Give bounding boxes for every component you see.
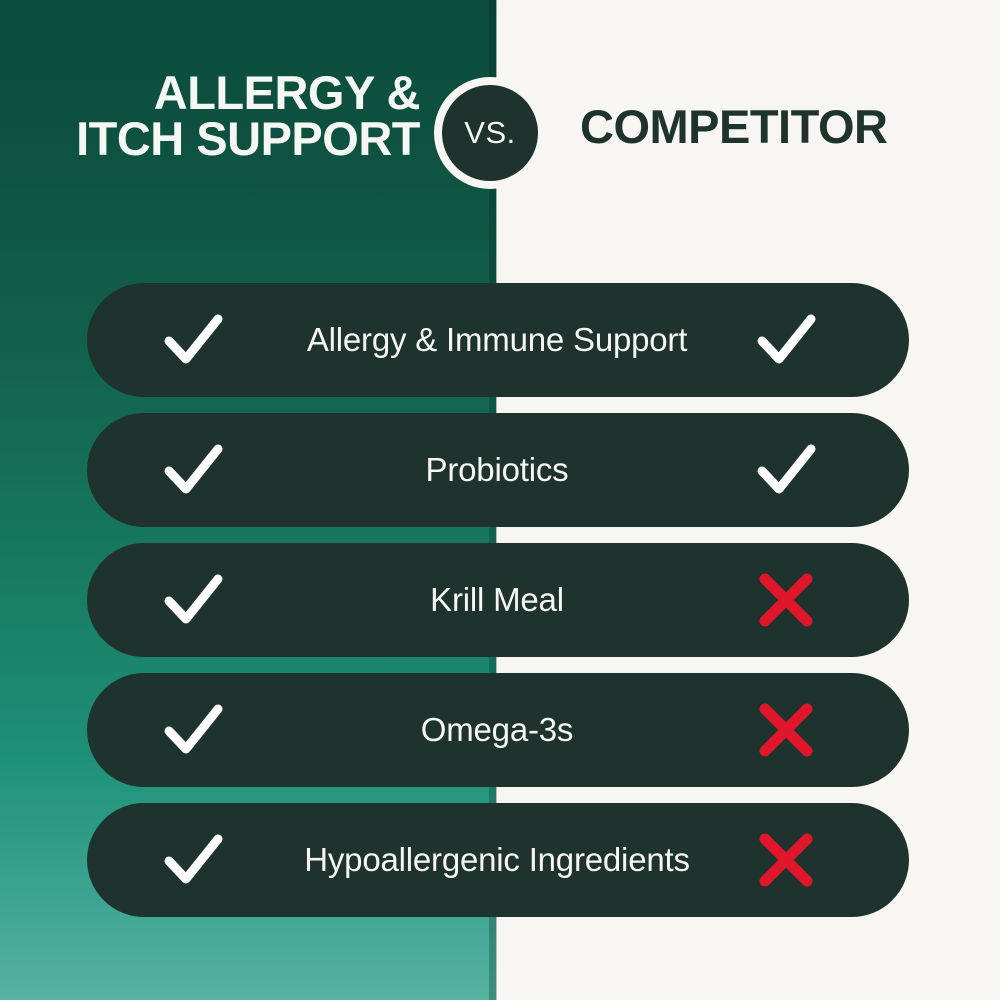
comparison-rows: Allergy & Immune Support Probiotics xyxy=(87,283,909,917)
check-icon-ours xyxy=(133,803,253,917)
check-icon-competitor xyxy=(726,283,846,397)
cross-icon-competitor xyxy=(726,543,846,657)
competitor-title: COMPETITOR xyxy=(580,103,980,150)
feature-label: Allergy & Immune Support xyxy=(267,283,727,397)
table-row: Probiotics xyxy=(87,413,909,527)
product-title: ALLERGY & ITCH SUPPORT xyxy=(0,70,420,162)
vs-badge-label: VS. xyxy=(442,85,538,181)
table-row: Omega-3s xyxy=(87,673,909,787)
product-title-line-2: ITCH SUPPORT xyxy=(0,116,420,162)
table-row: Hypoallergenic Ingredients xyxy=(87,803,909,917)
product-title-line-1: ALLERGY & xyxy=(0,70,420,116)
table-row: Krill Meal xyxy=(87,543,909,657)
cross-icon-competitor xyxy=(726,673,846,787)
check-icon-competitor xyxy=(726,413,846,527)
feature-label: Probiotics xyxy=(267,413,727,527)
feature-label: Krill Meal xyxy=(267,543,727,657)
feature-label: Hypoallergenic Ingredients xyxy=(267,803,727,917)
check-icon-ours xyxy=(133,673,253,787)
check-icon-ours xyxy=(133,543,253,657)
feature-label: Omega-3s xyxy=(267,673,727,787)
vs-badge: VS. xyxy=(434,77,546,189)
check-icon-ours xyxy=(133,413,253,527)
table-row: Allergy & Immune Support xyxy=(87,283,909,397)
cross-icon-competitor xyxy=(726,803,846,917)
header: ALLERGY & ITCH SUPPORT VS. COMPETITOR xyxy=(0,0,1000,215)
check-icon-ours xyxy=(133,283,253,397)
comparison-infographic: ALLERGY & ITCH SUPPORT VS. COMPETITOR Al… xyxy=(0,0,1000,1000)
